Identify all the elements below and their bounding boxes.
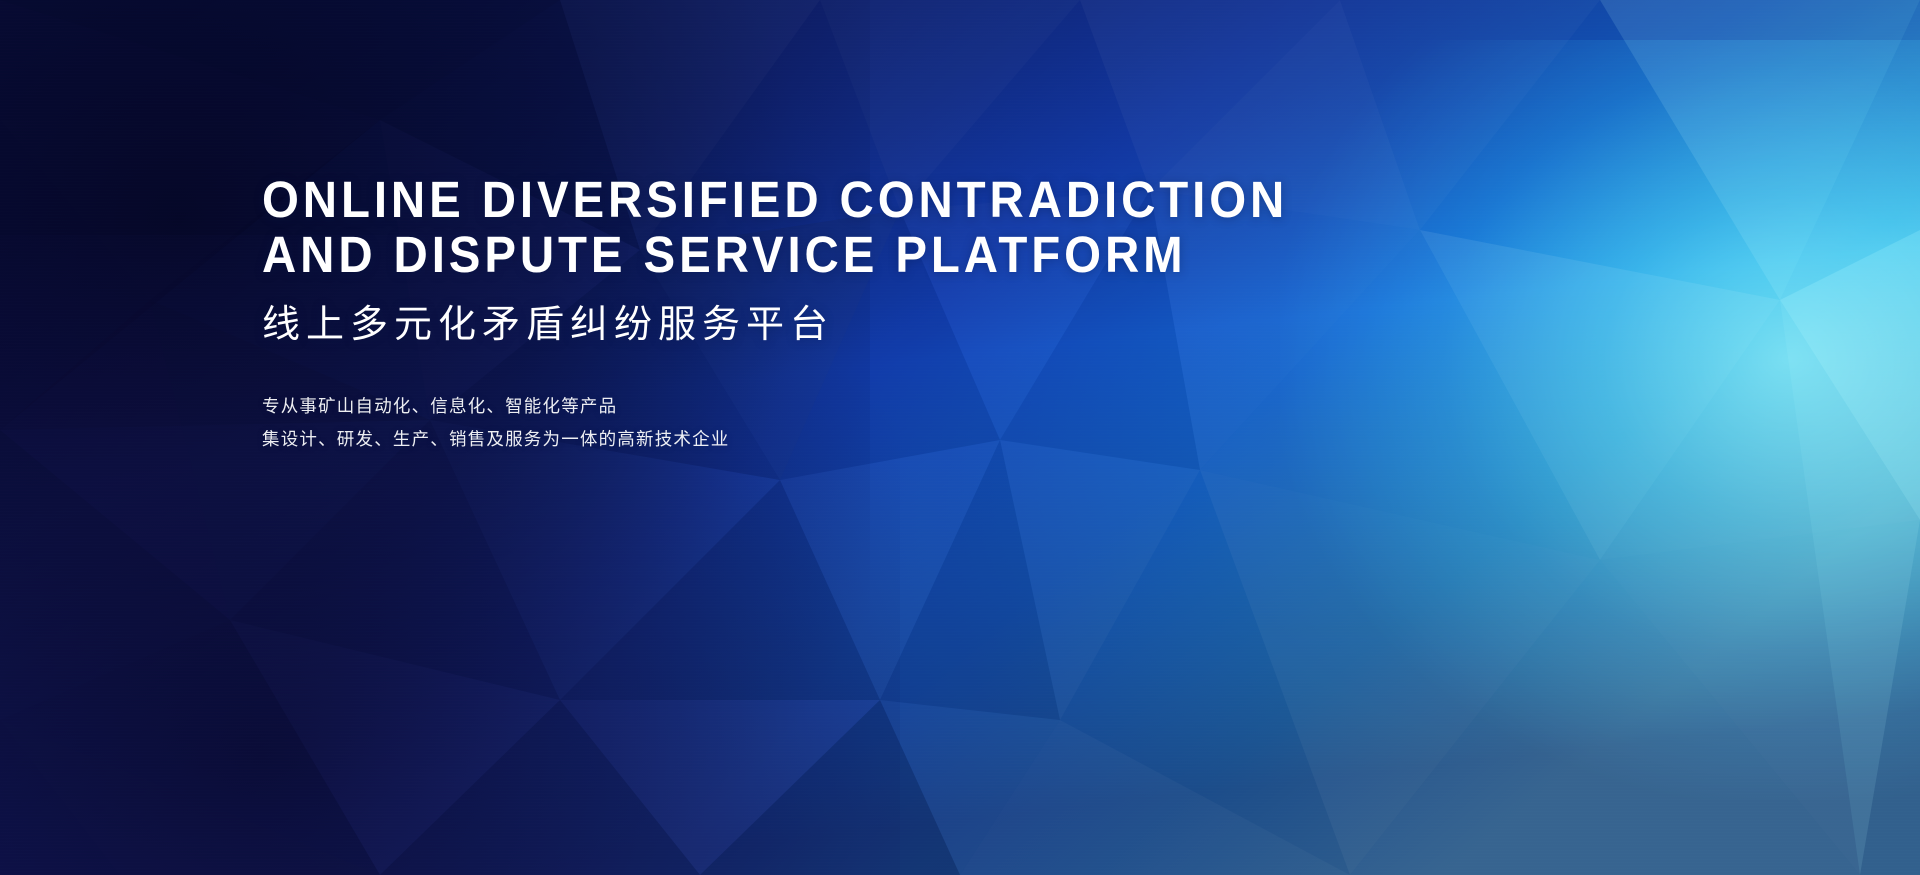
description-block: 专从事矿山自动化、信息化、智能化等产品 集设计、研发、生产、销售及服务为一体的高… — [262, 390, 1442, 456]
page-title: ONLINE DIVERSIFIED CONTRADICTION AND DIS… — [262, 172, 1442, 282]
subtitle-chinese: 线上多元化矛盾纠纷服务平台 — [262, 300, 1442, 350]
hero-copy-block: ONLINE DIVERSIFIED CONTRADICTION AND DIS… — [262, 172, 1442, 456]
description-line-2: 集设计、研发、生产、销售及服务为一体的高新技术企业 — [262, 423, 1442, 456]
description-line-1: 专从事矿山自动化、信息化、智能化等产品 — [262, 390, 1442, 423]
headline-line-2: AND DISPUTE SERVICE PLATFORM — [262, 227, 1359, 282]
hero-banner: ONLINE DIVERSIFIED CONTRADICTION AND DIS… — [0, 0, 1920, 875]
headline-line-1: ONLINE DIVERSIFIED CONTRADICTION — [262, 172, 1359, 227]
